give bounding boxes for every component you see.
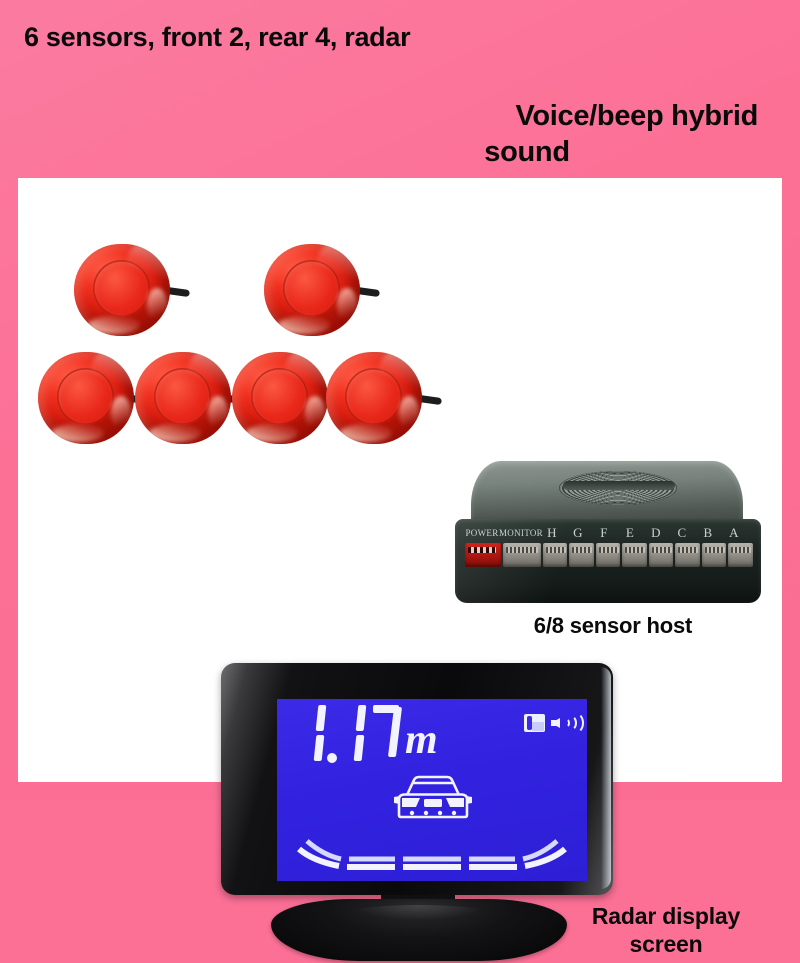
subtitle-line-2: sound <box>358 134 758 170</box>
port-label-e: E <box>617 525 643 541</box>
sensor-body <box>38 352 134 444</box>
sensor-highlight <box>88 316 140 334</box>
sensor-highlight <box>278 316 330 334</box>
sensor-highlight <box>340 424 392 442</box>
proximity-bar-graph <box>291 835 573 875</box>
lcd-digit-2 <box>339 703 371 765</box>
sensor-highlight <box>284 352 328 400</box>
parking-sensor <box>232 352 328 448</box>
sensor-body <box>74 244 170 336</box>
port-a[interactable] <box>728 543 753 567</box>
port-h[interactable] <box>543 543 568 567</box>
monitor-caption: Radar display screen <box>551 903 781 958</box>
port-label-c: C <box>669 525 695 541</box>
port-monitor[interactable] <box>503 543 541 567</box>
lcd-distance-readout: m <box>299 703 438 765</box>
speaker-icon <box>551 713 577 733</box>
host-port-labels: POWER MONITOR H G F E D C B A <box>465 525 753 541</box>
subtitle-line-1: Voice/beep hybrid <box>515 100 758 132</box>
port-label-d: D <box>643 525 669 541</box>
parking-sensor <box>326 352 422 448</box>
port-label-h: H <box>539 525 565 541</box>
sensor-highlight <box>246 424 298 442</box>
port-label-power: POWER <box>465 528 499 538</box>
host-front-panel: POWER MONITOR H G F E D C B A <box>455 519 761 603</box>
product-image-canvas: 6 sensors, front 2, rear 4, radar Voice/… <box>0 0 800 800</box>
lcd-unit-label: m <box>405 719 438 765</box>
sensor-highlight <box>399 396 419 430</box>
sensor-highlight <box>337 288 357 322</box>
port-power[interactable] <box>465 543 501 567</box>
monitor-caption-line-2: screen <box>551 931 781 959</box>
sensor-highlight <box>316 244 360 292</box>
sensor-highlight <box>378 352 422 400</box>
sensor-highlight <box>126 244 170 292</box>
sensor-badge-icon <box>524 714 545 732</box>
sensor-highlight <box>187 352 231 400</box>
parking-sensor <box>38 352 134 448</box>
port-label-a: A <box>721 525 747 541</box>
lcd-status-icons <box>524 713 577 733</box>
sensor-body <box>264 244 360 336</box>
port-f[interactable] <box>596 543 621 567</box>
speaker-grille-bar <box>563 481 675 490</box>
parking-sensor <box>74 244 170 340</box>
host-caption: 6/8 sensor host <box>503 613 723 639</box>
sensor-body <box>232 352 328 444</box>
parking-sensor <box>135 352 231 448</box>
sensor-highlight <box>305 396 325 430</box>
lcd-screen: m <box>277 699 587 881</box>
radar-display-monitor: m <box>221 663 621 963</box>
subtitle: Voice/beep hybrid sound <box>358 98 758 171</box>
page-title: 6 sensors, front 2, rear 4, radar <box>24 22 644 53</box>
sensor-highlight <box>149 424 201 442</box>
port-label-monitor: MONITOR <box>499 528 539 538</box>
car-front-icon <box>387 771 479 823</box>
sensor-host-unit: POWER MONITOR H G F E D C B A <box>453 461 763 611</box>
sensor-highlight <box>90 352 134 400</box>
port-label-b: B <box>695 525 721 541</box>
lcd-digit-1 <box>299 703 331 765</box>
sensor-highlight <box>208 396 228 430</box>
port-label-g: G <box>565 525 591 541</box>
port-g[interactable] <box>569 543 594 567</box>
lcd-digit-3 <box>371 703 403 765</box>
product-card: POWER MONITOR H G F E D C B A <box>18 178 782 782</box>
monitor-caption-line-1: Radar display <box>592 903 740 929</box>
host-port-row <box>465 543 753 569</box>
port-d[interactable] <box>649 543 674 567</box>
monitor-stand-base <box>271 899 567 961</box>
sensor-body <box>135 352 231 444</box>
port-b[interactable] <box>702 543 727 567</box>
sensor-highlight <box>147 288 167 322</box>
monitor-bezel: m <box>221 663 613 895</box>
parking-sensor <box>264 244 360 340</box>
sensor-highlight <box>111 396 131 430</box>
sensor-highlight <box>52 424 104 442</box>
sensor-body <box>326 352 422 444</box>
port-e[interactable] <box>622 543 647 567</box>
port-c[interactable] <box>675 543 700 567</box>
port-label-f: F <box>591 525 617 541</box>
